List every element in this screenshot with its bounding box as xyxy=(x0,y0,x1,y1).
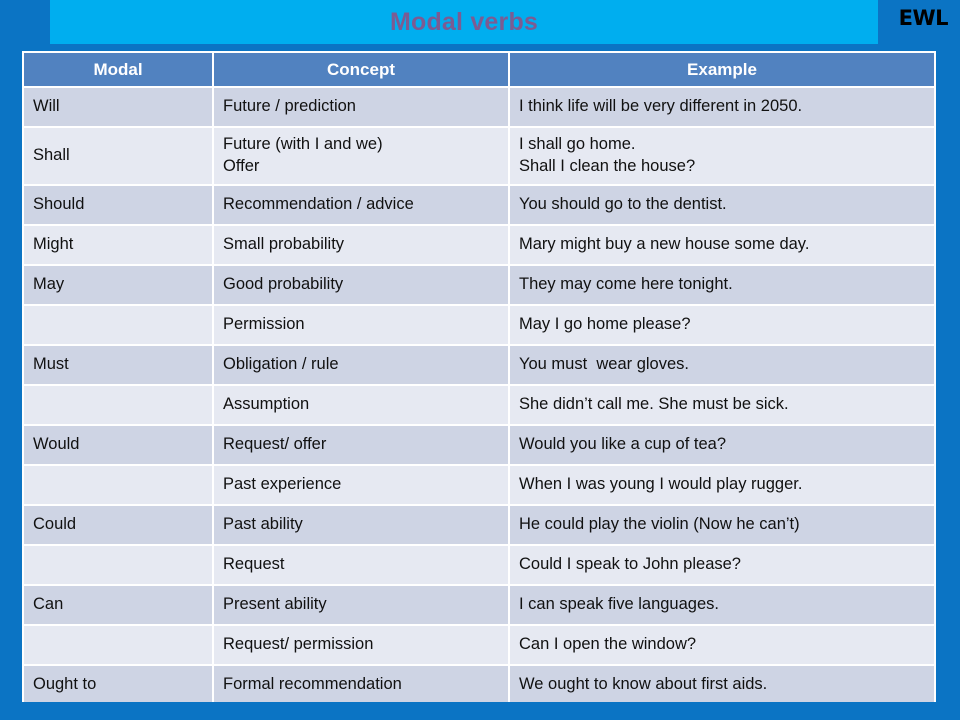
cell-concept: Future (with I and we) Offer xyxy=(213,127,509,185)
table-body: WillFuture / predictionI think life will… xyxy=(24,87,934,705)
ewl-logo: EWL xyxy=(899,6,948,30)
cell-modal xyxy=(24,545,213,585)
cell-modal: Can xyxy=(24,585,213,625)
cell-modal xyxy=(24,305,213,345)
table-header: Modal Concept Example xyxy=(24,53,934,87)
table-row: CanPresent abilityI can speak five langu… xyxy=(24,585,934,625)
cell-concept: Request/ permission xyxy=(213,625,509,665)
cell-concept: Good probability xyxy=(213,265,509,305)
cell-modal: Shall xyxy=(24,127,213,185)
footer-strip xyxy=(0,702,960,720)
cell-example: He could play the violin (Now he can’t) xyxy=(509,505,934,545)
table-row: PermissionMay I go home please? xyxy=(24,305,934,345)
cell-example: When I was young I would play rugger. xyxy=(509,465,934,505)
cell-example: I shall go home. Shall I clean the house… xyxy=(509,127,934,185)
table-row: CouldPast abilityHe could play the violi… xyxy=(24,505,934,545)
cell-concept: Future / prediction xyxy=(213,87,509,127)
cell-example: Mary might buy a new house some day. xyxy=(509,225,934,265)
cell-concept: Small probability xyxy=(213,225,509,265)
table-row: WouldRequest/ offerWould you like a cup … xyxy=(24,425,934,465)
column-header-modal: Modal xyxy=(24,53,213,87)
column-header-concept: Concept xyxy=(213,53,509,87)
cell-example: You should go to the dentist. xyxy=(509,185,934,225)
cell-concept: Request/ offer xyxy=(213,425,509,465)
slide-canvas: Modal verbs EWL Modal Concept Example Wi… xyxy=(0,0,960,720)
cell-example: I can speak five languages. xyxy=(509,585,934,625)
table-row: Request/ permissionCan I open the window… xyxy=(24,625,934,665)
cell-modal xyxy=(24,625,213,665)
table-row: MustObligation / ruleYou must wear glove… xyxy=(24,345,934,385)
column-header-example: Example xyxy=(509,53,934,87)
table-row: RequestCould I speak to John please? xyxy=(24,545,934,585)
cell-modal: May xyxy=(24,265,213,305)
table-row: ShouldRecommendation / adviceYou should … xyxy=(24,185,934,225)
modal-verbs-table-container: Modal Concept Example WillFuture / predi… xyxy=(22,51,936,708)
cell-modal: Must xyxy=(24,345,213,385)
table-row: WillFuture / predictionI think life will… xyxy=(24,87,934,127)
title-banner: Modal verbs xyxy=(50,0,878,44)
cell-concept: Past experience xyxy=(213,465,509,505)
cell-modal: Could xyxy=(24,505,213,545)
cell-example: I think life will be very different in 2… xyxy=(509,87,934,127)
cell-example: They may come here tonight. xyxy=(509,265,934,305)
cell-example: She didn’t call me. She must be sick. xyxy=(509,385,934,425)
table-row: AssumptionShe didn’t call me. She must b… xyxy=(24,385,934,425)
cell-modal: Might xyxy=(24,225,213,265)
cell-modal: Would xyxy=(24,425,213,465)
cell-modal: Should xyxy=(24,185,213,225)
cell-concept: Formal recommendation xyxy=(213,665,509,705)
table-header-row: Modal Concept Example xyxy=(24,53,934,87)
cell-concept: Permission xyxy=(213,305,509,345)
cell-concept: Request xyxy=(213,545,509,585)
cell-concept: Assumption xyxy=(213,385,509,425)
table-row: Ought toFormal recommendationWe ought to… xyxy=(24,665,934,705)
cell-example: Could I speak to John please? xyxy=(509,545,934,585)
cell-example: We ought to know about first aids. xyxy=(509,665,934,705)
cell-modal xyxy=(24,385,213,425)
cell-concept: Present ability xyxy=(213,585,509,625)
cell-modal: Ought to xyxy=(24,665,213,705)
cell-example: May I go home please? xyxy=(509,305,934,345)
table-row: Past experienceWhen I was young I would … xyxy=(24,465,934,505)
cell-modal: Will xyxy=(24,87,213,127)
cell-example: Can I open the window? xyxy=(509,625,934,665)
table-row: MightSmall probabilityMary might buy a n… xyxy=(24,225,934,265)
table-row: MayGood probabilityThey may come here to… xyxy=(24,265,934,305)
cell-modal xyxy=(24,465,213,505)
cell-concept: Recommendation / advice xyxy=(213,185,509,225)
cell-concept: Past ability xyxy=(213,505,509,545)
modal-verbs-table: Modal Concept Example WillFuture / predi… xyxy=(24,53,934,706)
cell-example: Would you like a cup of tea? xyxy=(509,425,934,465)
cell-concept: Obligation / rule xyxy=(213,345,509,385)
cell-example: You must wear gloves. xyxy=(509,345,934,385)
table-row: ShallFuture (with I and we) OfferI shall… xyxy=(24,127,934,185)
page-title: Modal verbs xyxy=(50,0,878,44)
